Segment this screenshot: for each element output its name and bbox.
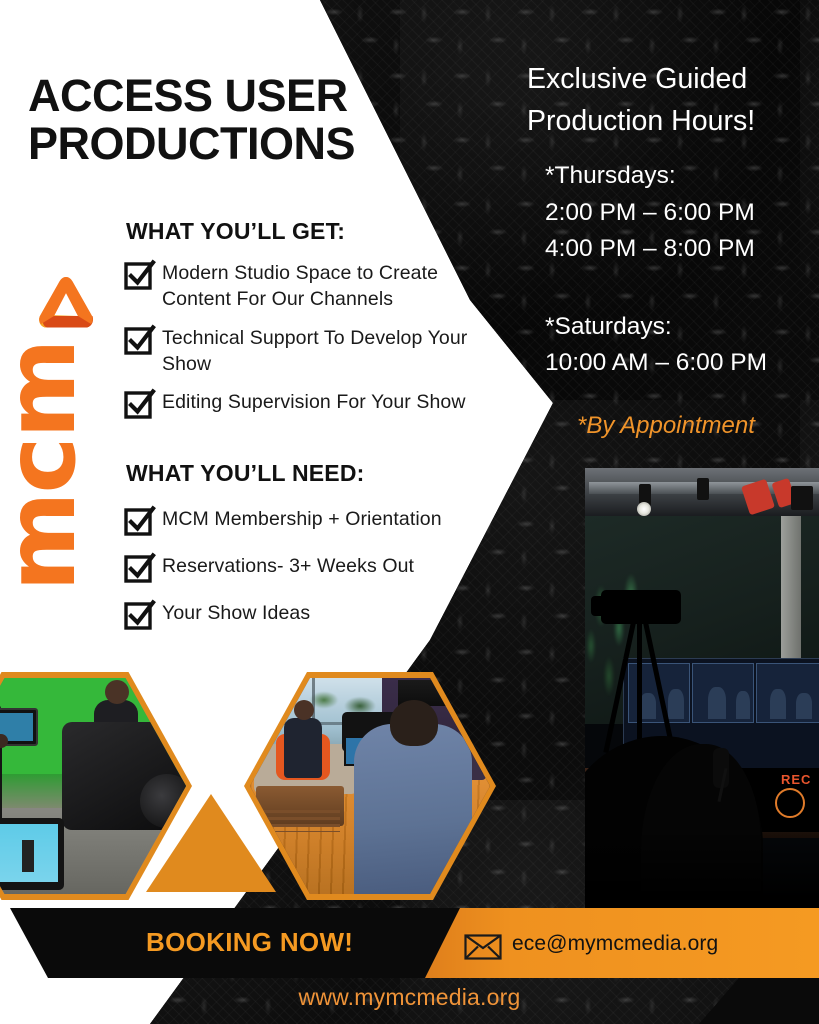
studio-light [791,486,813,510]
title-line-2: PRODUCTIONS [28,120,388,168]
list-item: Technical Support To Develop Your Show [124,325,496,378]
envelope-icon [464,934,502,960]
camera-lens [591,596,613,616]
list-item-label: Technical Support To Develop Your Show [162,325,496,378]
booking-now-label: BOOKING NOW! [146,927,353,958]
lcd-figure [22,840,34,872]
studio-lamp [637,502,651,516]
hexagon-photo-greenscreen [0,672,192,900]
guest-head [294,700,314,720]
get-section-list: Modern Studio Space to Create Content Fo… [124,260,496,429]
table-slats [260,810,340,832]
mcm-logo: mcm [14,268,110,634]
list-item: MCM Membership + Orientation [124,506,496,534]
list-item-label: Editing Supervision For Your Show [162,389,466,415]
hexagon-clip [0,678,186,894]
poster-canvas: OK REC [0,0,819,1024]
monitor-rec-ring [775,788,805,818]
list-item-label: Your Show Ideas [162,600,310,626]
footer-banner: BOOKING NOW! ece@mymcmedia.org [0,908,819,978]
checkbox-checked-icon [124,327,150,353]
need-section-heading: WHAT YOU’LL NEED: [126,460,365,487]
interview-guest [284,718,322,778]
checkbox-checked-icon [124,508,150,534]
camera-body [601,590,681,624]
hours-day-saturdays: *Saturdays: 10:00 AM – 6:00 PM [545,309,817,382]
need-section-list: MCM Membership + Orientation Reservation… [124,506,496,647]
list-item-label: MCM Membership + Orientation [162,506,442,532]
hours-heading-line-2: Production Hours! [527,100,817,142]
day-label: *Thursdays: [545,158,817,194]
day-time: 4:00 PM – 8:00 PM [545,231,817,267]
day-label: *Saturdays: [545,309,817,345]
get-section-heading: WHAT YOU’LL GET: [126,218,345,245]
monitor-person [796,693,812,719]
monitor-person [708,687,726,719]
hexagon-photo-interview [244,672,496,900]
subject-head [105,680,129,704]
hours-panel: Exclusive Guided Production Hours! *Thur… [527,58,817,440]
camera-lens [140,774,186,828]
tripod-leg [603,623,635,753]
list-item-label: Reservations- 3+ Weeks Out [162,553,414,579]
tripod-leg [637,622,642,754]
control-room-photo: OK REC [585,468,819,928]
hexagon-clip [250,678,490,894]
camera-operator [354,724,472,894]
hours-heading: Exclusive Guided Production Hours! [527,58,817,142]
checkbox-checked-icon [124,555,150,581]
appointment-note: *By Appointment [577,412,817,440]
tripod-leg [643,623,675,753]
hours-body: *Thursdays: 2:00 PM – 6:00 PM 4:00 PM – … [545,158,817,381]
page-title: ACCESS USER PRODUCTIONS [28,72,388,167]
title-line-1: ACCESS USER [28,72,388,120]
mcm-wordmark: mcm [0,316,94,616]
hours-day-thursdays: *Thursdays: 2:00 PM – 6:00 PM 4:00 PM – … [545,158,817,267]
monitor-person [770,689,786,719]
checkbox-checked-icon [124,262,150,288]
checkbox-checked-icon [124,602,150,628]
website-link[interactable]: www.mymcmedia.org [0,984,819,1011]
operator-head [390,700,438,746]
list-item-label: Modern Studio Space to Create Content Fo… [162,260,496,313]
list-item: Modern Studio Space to Create Content Fo… [124,260,496,313]
monitor-rec-text: REC [781,772,811,787]
list-item: Reservations- 3+ Weeks Out [124,553,496,581]
day-time: 2:00 PM – 6:00 PM [545,195,817,231]
checkbox-checked-icon [124,391,150,417]
day-time: 10:00 AM – 6:00 PM [545,345,817,381]
list-item: Your Show Ideas [124,600,496,628]
monitor-person [736,691,750,719]
studio-light [697,478,709,500]
email-link[interactable]: ece@mymcmedia.org [512,932,718,956]
list-item: Editing Supervision For Your Show [124,389,496,417]
hours-heading-line-1: Exclusive Guided [527,58,817,100]
